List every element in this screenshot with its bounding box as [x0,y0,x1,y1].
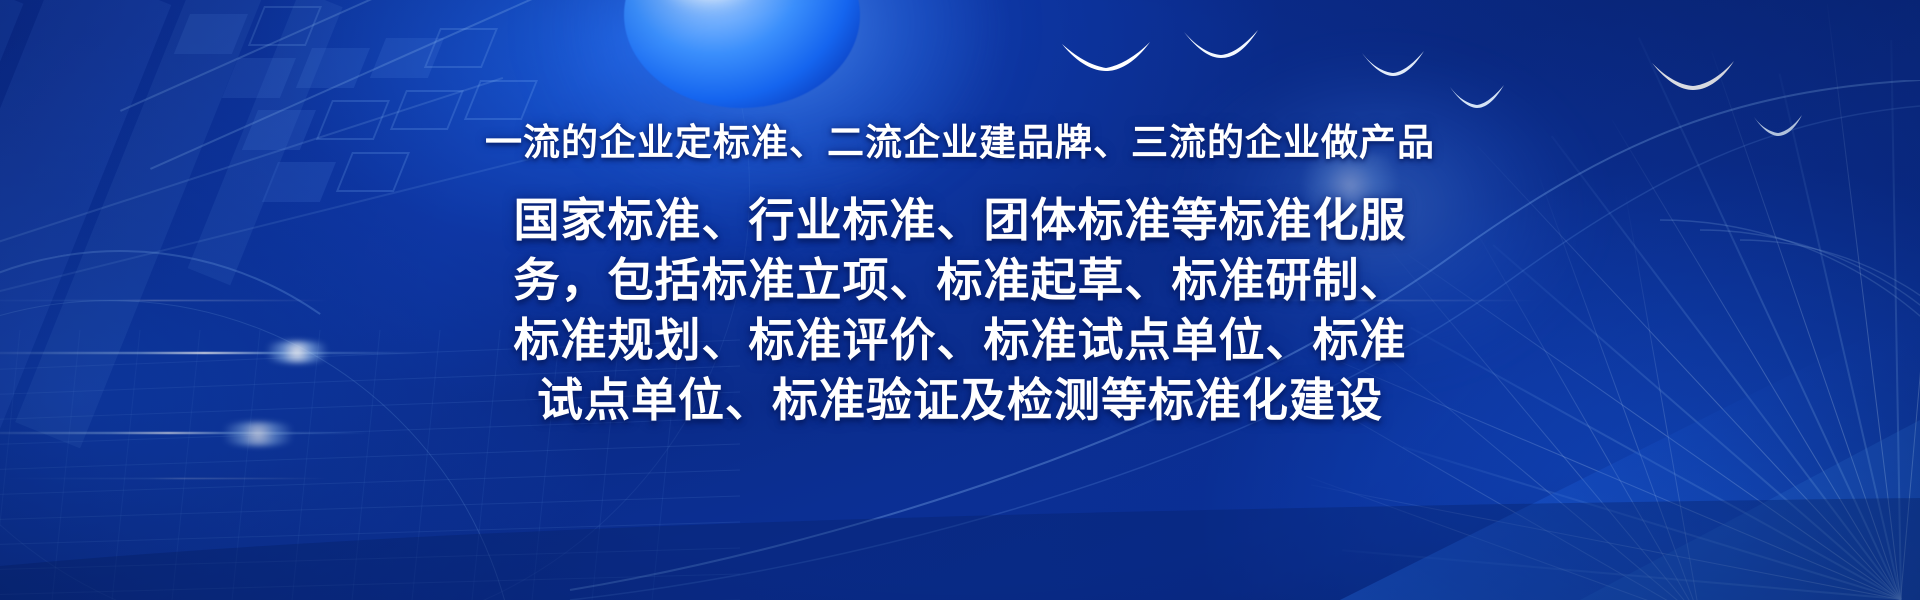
light-blob [255,341,339,363]
horizontal-light-streak [0,300,330,301]
light-blob [210,422,306,446]
horizontal-light-streak [0,352,430,354]
promo-banner: 一流的企业定标准、二流企业建品牌、三流的企业做产品 国家标准、行业标准、团体标准… [0,0,1920,600]
bottom-band [0,470,1920,600]
body-line: 国家标准、行业标准、团体标准等标准化服 [445,190,1475,250]
body-line: 务，包括标准立项、标准起草、标准研制、 [445,250,1475,310]
banner-headline: 一流的企业定标准、二流企业建品牌、三流的企业做产品 [0,112,1920,166]
body-line: 标准规划、标准评价、标准试点单位、标准 [445,310,1475,370]
seagull-silhouette [1448,84,1506,108]
horizontal-light-streak [0,432,370,434]
seagull-silhouette [1650,58,1736,90]
seagull-silhouette [1360,50,1426,76]
seagull-silhouette [1060,38,1152,72]
seagull-silhouette [1182,28,1260,58]
body-line: 试点单位、标准验证及检测等标准化建设 [445,370,1475,430]
banner-body-text: 国家标准、行业标准、团体标准等标准化服 务，包括标准立项、标准起草、标准研制、 … [445,190,1475,430]
